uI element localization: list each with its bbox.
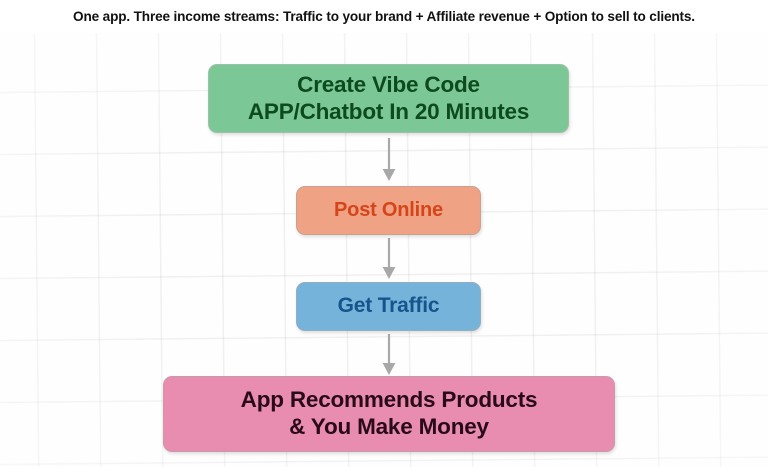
flow-step-create-label: Create Vibe Code APP/Chatbot In 20 Minut… (248, 72, 529, 125)
flow-step-create: Create Vibe Code APP/Chatbot In 20 Minut… (208, 64, 569, 133)
caption-text: One app. Three income streams: Traffic t… (0, 0, 768, 33)
flow-arrow-2 (380, 238, 398, 280)
flow-arrow-1 (380, 138, 398, 182)
flow-arrow-3 (380, 334, 398, 376)
flow-step-make-money-label: App Recommends Products & You Make Money (241, 387, 538, 440)
flow-step-make-money: App Recommends Products & You Make Money (163, 376, 615, 452)
flow-step-get-traffic-label: Get Traffic (338, 294, 440, 319)
flow-step-get-traffic: Get Traffic (296, 282, 481, 331)
slide-canvas: One app. Three income streams: Traffic t… (0, 0, 768, 467)
flow-step-post-online-label: Post Online (334, 199, 443, 223)
flow-step-post-online: Post Online (296, 186, 481, 235)
